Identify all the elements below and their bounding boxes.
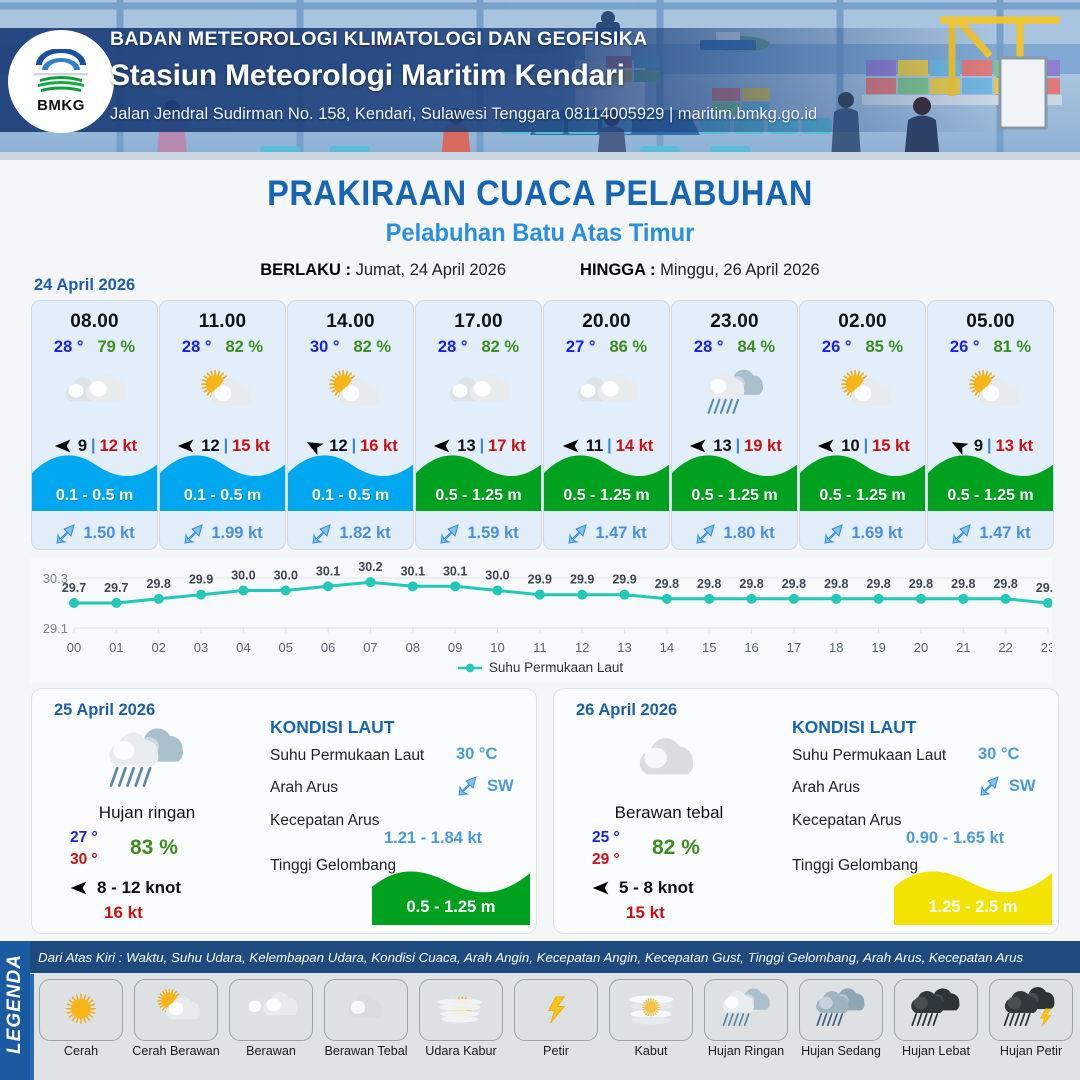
daily-wind-speed: 8 - 12 knot	[97, 878, 181, 898]
udara-kabur-icon	[428, 985, 494, 1035]
current-speed-value: 0.90 - 1.65 kt	[906, 829, 1004, 848]
legend-caption-text: Dari Atas Kiri : Waktu, Suhu Udara, Kele…	[30, 950, 1023, 965]
legend-item-label: Kabut	[604, 1044, 698, 1058]
station-name: Stasiun Meteorologi Maritim Kendari	[110, 57, 817, 95]
cerah-berawan-icon	[184, 367, 262, 423]
legend-footer: LEGENDA Dari Atas Kiri : Waktu, Suhu Uda…	[0, 941, 1080, 1080]
daily-weather-icon-slot	[612, 723, 724, 801]
daily-forecast-panels: 25 April 2026Hujan ringan27 °30 °83 %8 -…	[31, 688, 1059, 934]
svg-text:30.0: 30.0	[274, 569, 298, 583]
valid-until-label: HINGGA :	[580, 261, 655, 279]
berawan-tebal-icon	[333, 985, 399, 1035]
daily-date: 25 April 2026	[54, 701, 155, 720]
hourly-card[interactable]: 08.0028 °79 %9|12 kt0.1 - 0.5 m1.50 kt	[31, 300, 158, 550]
valid-until-value: Minggu, 26 April 2026	[660, 261, 820, 279]
card-time: 14.00	[288, 311, 413, 333]
bmkg-emblem-icon	[30, 49, 92, 95]
cerah-berawan-icon	[143, 985, 209, 1035]
current-direction-sw-icon	[566, 521, 590, 545]
page-title: PRAKIRAAN CUACA PELABUHAN	[38, 174, 1042, 214]
card-current-speed: 1.80 kt	[723, 524, 774, 543]
daily-temp-max: 29 °	[592, 851, 620, 869]
daily-condition: Berawan tebal	[564, 803, 774, 823]
chart-legend-label: Suhu Permukaan Laut	[489, 660, 623, 675]
bmkg-logo: BMKG	[8, 30, 114, 133]
hourly-card[interactable]: 23.0028 °84 %13|19 kt0.5 - 1.25 m1.80 kt	[671, 300, 798, 550]
hourly-card[interactable]: 05.0026 °81 %9|13 kt0.5 - 1.25 m1.47 kt	[927, 300, 1054, 550]
card-wave-height: 0.1 - 0.5 m	[160, 487, 285, 505]
card-wave-graphic: 0.5 - 1.25 m	[544, 447, 669, 511]
legenda-sidebar-label: LEGENDA	[4, 949, 26, 1059]
cerah-berawan-icon	[952, 367, 1030, 423]
legend-caption: Dari Atas Kiri : Waktu, Suhu Udara, Kele…	[30, 941, 1080, 973]
page-header: BMKG BADAN METEOROLOGI KLIMATOLOGI DAN G…	[0, 0, 1080, 160]
svg-text:29.8: 29.8	[739, 577, 763, 591]
current-dir-label: Arah Arus	[270, 779, 338, 797]
card-wave-graphic: 0.1 - 0.5 m	[32, 447, 157, 511]
hujan-ringan-icon	[94, 725, 198, 799]
legend-item: Cerah Berawan	[129, 979, 223, 1058]
daily-wave-height: 0.5 - 1.25 m	[372, 898, 530, 917]
card-temperature: 26 °	[950, 338, 980, 357]
current-direction-sw-icon	[978, 773, 1002, 797]
card-wave-graphic: 0.5 - 1.25 m	[928, 447, 1053, 511]
card-current-row: 1.50 kt	[32, 521, 157, 545]
svg-text:16: 16	[744, 640, 758, 655]
legend-item-label: Hujan Petir	[984, 1044, 1078, 1058]
card-wave-graphic: 0.1 - 0.5 m	[288, 447, 413, 511]
legend-item-label: Udara Kabur	[414, 1044, 508, 1058]
card-weather-icon-slot	[928, 363, 1053, 427]
daily-panel: 25 April 2026Hujan ringan27 °30 °83 %8 -…	[31, 688, 537, 934]
svg-text:10: 10	[490, 640, 504, 655]
current-dir-value: SW	[1009, 777, 1036, 796]
svg-text:21: 21	[956, 640, 970, 655]
svg-text:15: 15	[702, 640, 716, 655]
svg-text:29.8: 29.8	[824, 577, 848, 591]
legend-item: Hujan Petir	[984, 979, 1078, 1058]
agency-name: BADAN METEOROLOGI KLIMATOLOGI DAN GEOFIS…	[110, 30, 817, 50]
svg-text:07: 07	[363, 640, 377, 655]
svg-text:05: 05	[279, 640, 293, 655]
card-time: 05.00	[928, 311, 1053, 333]
card-humidity: 82 %	[481, 338, 519, 357]
legend-icon-slot	[419, 979, 503, 1041]
daily-wind-speed: 5 - 8 knot	[619, 878, 694, 898]
legend-item-label: Petir	[509, 1044, 603, 1058]
port-name: Pelabuhan Batu Atas Timur	[27, 219, 1053, 248]
svg-text:29.1: 29.1	[43, 621, 68, 636]
card-weather-icon-slot	[672, 363, 797, 427]
card-current-row: 1.80 kt	[672, 521, 797, 545]
hourly-day-label: 24 April 2026	[34, 276, 135, 295]
daily-wind-row: 8 - 12 knot	[68, 877, 181, 899]
legend-item: Kabut	[604, 979, 698, 1058]
station-address: Jalan Jendral Sudirman No. 158, Kendari,…	[110, 106, 817, 123]
current-direction-sw-icon	[54, 521, 78, 545]
legend-icon-slot	[514, 979, 598, 1041]
card-wave-height: 0.5 - 1.25 m	[544, 487, 669, 505]
card-humidity: 79 %	[97, 338, 135, 357]
svg-text:17: 17	[787, 640, 801, 655]
current-direction-sw-icon	[694, 521, 718, 545]
current-dir-value: SW	[487, 777, 514, 796]
daily-temp-min: 27 °	[70, 829, 98, 847]
current-direction-sw-icon	[310, 521, 334, 545]
svg-text:30.0: 30.0	[485, 569, 509, 583]
bmkg-logo-text: BMKG	[37, 97, 85, 114]
legend-icon-slot	[229, 979, 313, 1041]
hourly-card[interactable]: 14.0030 °82 %12|16 kt0.1 - 0.5 m1.82 kt	[287, 300, 414, 550]
daily-panel: 26 April 2026Berawan tebal25 °29 °82 %5 …	[553, 688, 1059, 934]
card-current-speed: 1.47 kt	[979, 524, 1030, 543]
svg-text:18: 18	[829, 640, 843, 655]
wind-direction-w-icon	[68, 877, 90, 899]
svg-text:29.8: 29.8	[909, 577, 933, 591]
legend-item-label: Hujan Lebat	[889, 1044, 983, 1058]
card-wave-height: 0.5 - 1.25 m	[928, 487, 1053, 505]
card-weather-icon-slot	[288, 363, 413, 427]
card-current-row: 1.69 kt	[800, 521, 925, 545]
legend-icon-slot	[609, 979, 693, 1041]
card-current-row: 1.82 kt	[288, 521, 413, 545]
legend-item-label: Cerah	[34, 1044, 128, 1058]
legend-item: Cerah	[34, 979, 128, 1058]
svg-text:30.1: 30.1	[401, 564, 425, 578]
cerah-berawan-icon	[824, 367, 902, 423]
svg-text:30.2: 30.2	[358, 560, 382, 574]
sst-label: Suhu Permukaan Laut	[270, 747, 424, 765]
card-wave-height: 0.1 - 0.5 m	[32, 487, 157, 505]
hourly-card[interactable]: 20.0027 °86 %11|14 kt0.5 - 1.25 m1.47 kt	[543, 300, 670, 550]
card-current-speed: 1.50 kt	[83, 524, 134, 543]
card-current-speed: 1.99 kt	[211, 524, 262, 543]
legend-icon-list: CerahCerah BerawanBerawanBerawan TebalUd…	[34, 979, 1078, 1058]
svg-text:00: 00	[67, 640, 81, 655]
card-wave-height: 0.5 - 1.25 m	[672, 487, 797, 505]
svg-text:19: 19	[871, 640, 885, 655]
legend-item: Hujan Sedang	[794, 979, 888, 1058]
card-temperature: 28 °	[694, 338, 724, 357]
card-temperature: 26 °	[822, 338, 852, 357]
current-direction-sw-icon	[182, 521, 206, 545]
card-time: 23.00	[672, 311, 797, 333]
current-direction-sw-icon	[438, 521, 462, 545]
svg-text:14: 14	[660, 640, 674, 655]
legend-icon-slot	[39, 979, 123, 1041]
svg-text:29.7: 29.7	[1036, 581, 1052, 595]
card-wave-graphic: 0.5 - 1.25 m	[672, 447, 797, 511]
card-wave-graphic: 0.5 - 1.25 m	[416, 447, 541, 511]
card-time: 20.00	[544, 311, 669, 333]
hujan-sedang-icon	[808, 985, 874, 1035]
legend-icon-slot	[324, 979, 408, 1041]
sst-value: 30 °C	[978, 745, 1019, 764]
current-dir-label: Arah Arus	[792, 779, 860, 797]
hujan-lebat-icon	[903, 985, 969, 1035]
svg-text:04: 04	[236, 640, 250, 655]
hourly-forecast-cards: 08.0028 °79 %9|12 kt0.1 - 0.5 m1.50 kt11…	[31, 300, 1054, 550]
svg-text:29.8: 29.8	[951, 577, 975, 591]
legend-item-label: Berawan Tebal	[319, 1044, 413, 1058]
daily-temp-group: 25 °29 °	[592, 829, 620, 869]
legend-item: Petir	[509, 979, 603, 1058]
valid-from-value: Jumat, 24 April 2026	[356, 261, 506, 279]
card-time: 08.00	[32, 311, 157, 333]
legend-item-label: Cerah Berawan	[129, 1044, 223, 1058]
card-weather-icon-slot	[160, 363, 285, 427]
svg-text:29.8: 29.8	[866, 577, 890, 591]
hujan-ringan-icon	[713, 985, 779, 1035]
berawan-icon	[440, 367, 518, 423]
legend-icon-slot	[989, 979, 1073, 1041]
card-weather-icon-slot	[32, 363, 157, 427]
sst-value: 30 °C	[456, 745, 497, 764]
daily-temp-max: 30 °	[70, 851, 98, 869]
current-speed-value: 1.21 - 1.84 kt	[384, 829, 482, 848]
current-speed-label: Kecepatan Arus	[270, 812, 379, 830]
sst-label: Suhu Permukaan Laut	[792, 747, 946, 765]
svg-text:29.8: 29.8	[147, 577, 171, 591]
berawan-icon	[568, 367, 646, 423]
svg-text:01: 01	[109, 640, 123, 655]
svg-text:03: 03	[194, 640, 208, 655]
card-current-row: 1.99 kt	[160, 521, 285, 545]
current-direction-sw-icon	[822, 521, 846, 545]
legend-item: Berawan	[224, 979, 318, 1058]
cerah-berawan-icon	[312, 367, 390, 423]
card-wave-height: 0.5 - 1.25 m	[416, 487, 541, 505]
card-wave-graphic: 0.1 - 0.5 m	[160, 447, 285, 511]
svg-text:29.9: 29.9	[528, 573, 552, 587]
daily-wave-graphic: 1.25 - 2.5 m	[894, 865, 1052, 925]
current-direction-sw-icon	[456, 773, 480, 797]
svg-text:29.8: 29.8	[697, 577, 721, 591]
daily-gust-speed: 16 kt	[104, 903, 143, 923]
validity-row: BERLAKU : Jumat, 24 April 2026 HINGGA : …	[0, 261, 1080, 280]
svg-text:09: 09	[448, 640, 462, 655]
svg-text:29.8: 29.8	[782, 577, 806, 591]
daily-wave-graphic: 0.5 - 1.25 m	[372, 865, 530, 925]
card-humidity: 82 %	[225, 338, 263, 357]
hourly-card[interactable]: 11.0028 °82 %12|15 kt0.1 - 0.5 m1.99 kt	[159, 300, 286, 550]
legend-icon-slot	[704, 979, 788, 1041]
svg-text:30.0: 30.0	[231, 569, 255, 583]
card-humidity: 85 %	[865, 338, 903, 357]
legend-icon-slot	[894, 979, 978, 1041]
card-current-speed: 1.47 kt	[595, 524, 646, 543]
daily-humidity: 83 %	[130, 836, 178, 860]
svg-text:29.9: 29.9	[612, 573, 636, 587]
svg-text:11: 11	[533, 640, 547, 655]
valid-from: BERLAKU : Jumat, 24 April 2026	[260, 261, 506, 280]
berawan-icon	[238, 985, 304, 1035]
svg-text:30.1: 30.1	[316, 564, 340, 578]
sea-condition-title: KONDISI LAUT	[270, 717, 394, 738]
title-section: PRAKIRAAN CUACA PELABUHAN Pelabuhan Batu…	[0, 160, 1080, 280]
legenda-sidebar: LEGENDA	[0, 941, 30, 1080]
daily-temp-min: 25 °	[592, 829, 620, 847]
current-direction-sw-icon	[950, 521, 974, 545]
daily-wave-height: 1.25 - 2.5 m	[894, 898, 1052, 917]
card-current-row: 1.47 kt	[928, 521, 1053, 545]
legend-item: Berawan Tebal	[319, 979, 413, 1058]
petir-icon	[523, 985, 589, 1035]
card-temperature: 28 °	[182, 338, 212, 357]
current-speed-label: Kecepatan Arus	[792, 812, 901, 830]
svg-text:29.8: 29.8	[993, 577, 1017, 591]
valid-from-label: BERLAKU :	[260, 261, 351, 279]
svg-text:22: 22	[998, 640, 1012, 655]
legend-item: Udara Kabur	[414, 979, 508, 1058]
hujan-petir-icon	[998, 985, 1064, 1035]
card-weather-icon-slot	[416, 363, 541, 427]
svg-text:29.9: 29.9	[570, 573, 594, 587]
legend-item: Hujan Lebat	[889, 979, 983, 1058]
daily-condition: Hujan ringan	[42, 803, 252, 823]
card-humidity: 81 %	[993, 338, 1031, 357]
hujan-ringan-icon	[696, 367, 774, 423]
hourly-card[interactable]: 17.0028 °82 %13|17 kt0.5 - 1.25 m1.59 kt	[415, 300, 542, 550]
svg-text:20: 20	[914, 640, 928, 655]
card-temperature: 27 °	[566, 338, 596, 357]
card-weather-icon-slot	[800, 363, 925, 427]
hourly-card[interactable]: 02.0026 °85 %10|15 kt0.5 - 1.25 m1.69 kt	[799, 300, 926, 550]
svg-text:02: 02	[151, 640, 165, 655]
card-time: 02.00	[800, 311, 925, 333]
card-current-speed: 1.69 kt	[851, 524, 902, 543]
daily-temp-group: 27 °30 °	[70, 829, 98, 869]
svg-text:08: 08	[406, 640, 420, 655]
svg-text:29.7: 29.7	[62, 581, 86, 595]
card-humidity: 84 %	[737, 338, 775, 357]
svg-text:12: 12	[575, 640, 589, 655]
daily-gust-speed: 15 kt	[626, 903, 665, 923]
card-current-speed: 1.59 kt	[467, 524, 518, 543]
kabut-icon	[618, 985, 684, 1035]
card-current-speed: 1.82 kt	[339, 524, 390, 543]
legend-item: Hujan Ringan	[699, 979, 793, 1058]
wind-direction-w-icon	[590, 877, 612, 899]
svg-text:13: 13	[617, 640, 631, 655]
card-wave-height: 0.5 - 1.25 m	[800, 487, 925, 505]
card-wave-graphic: 0.5 - 1.25 m	[800, 447, 925, 511]
legend-icon-slot	[134, 979, 218, 1041]
daily-weather-icon-slot	[90, 723, 202, 801]
legend-item-label: Hujan Sedang	[794, 1044, 888, 1058]
card-current-row: 1.59 kt	[416, 521, 541, 545]
legend-item-label: Hujan Ringan	[699, 1044, 793, 1058]
daily-humidity: 82 %	[652, 836, 700, 860]
svg-text:06: 06	[321, 640, 335, 655]
card-humidity: 86 %	[609, 338, 647, 357]
card-humidity: 82 %	[353, 338, 391, 357]
svg-text:29.8: 29.8	[655, 577, 679, 591]
card-wave-height: 0.1 - 0.5 m	[288, 487, 413, 505]
card-temperature: 28 °	[438, 338, 468, 357]
card-temperature: 28 °	[54, 338, 84, 357]
cerah-icon	[48, 985, 114, 1035]
card-time: 11.00	[160, 311, 285, 333]
svg-text:23: 23	[1041, 640, 1052, 655]
svg-text:30.1: 30.1	[443, 564, 467, 578]
legend-icon-slot	[799, 979, 883, 1041]
chart-legend: Suhu Permukaan Laut	[0, 660, 1080, 677]
card-time: 17.00	[416, 311, 541, 333]
daily-date: 26 April 2026	[576, 701, 677, 720]
card-weather-icon-slot	[544, 363, 669, 427]
svg-text:29.9: 29.9	[189, 573, 213, 587]
card-current-row: 1.47 kt	[544, 521, 669, 545]
valid-until: HINGGA : Minggu, 26 April 2026	[580, 261, 820, 280]
legend-item-label: Berawan	[224, 1044, 318, 1058]
svg-text:29.7: 29.7	[104, 581, 128, 595]
berawan-tebal-icon	[616, 725, 720, 799]
card-temperature: 30 °	[310, 338, 340, 357]
sea-condition-title: KONDISI LAUT	[792, 717, 916, 738]
berawan-icon	[56, 367, 134, 423]
daily-wind-row: 5 - 8 knot	[590, 877, 694, 899]
chart-legend-marker-icon	[457, 662, 483, 674]
